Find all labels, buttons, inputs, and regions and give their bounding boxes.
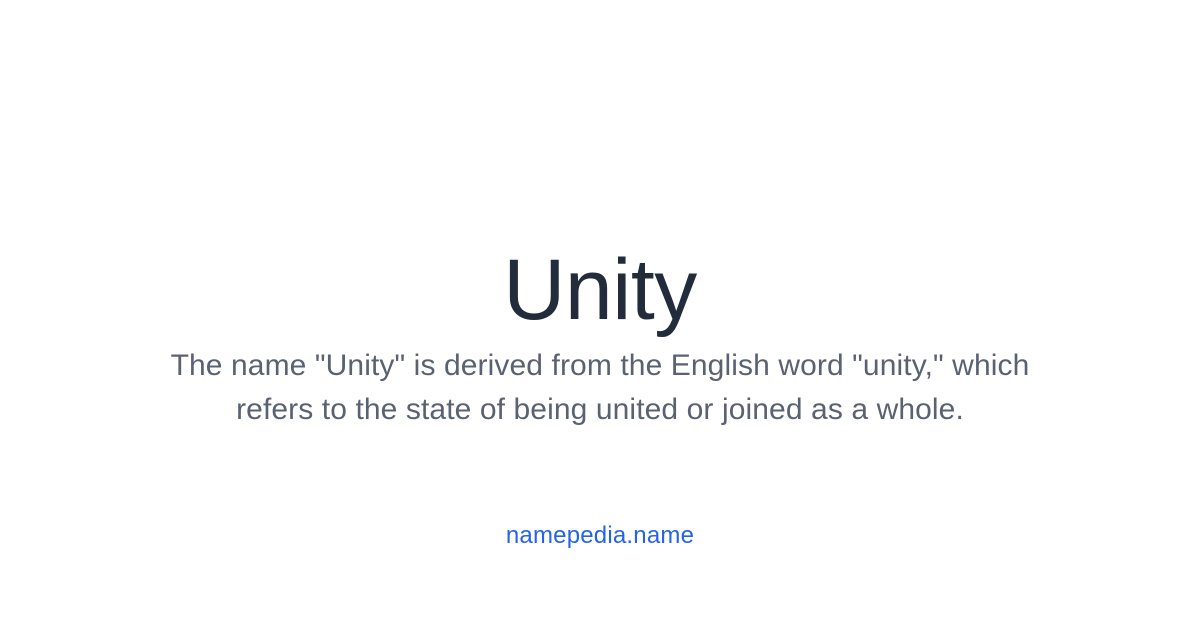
name-preview-card: Unity The name "Unity" is derived from t… — [0, 0, 1200, 630]
site-domain-link[interactable]: namepedia.name — [0, 520, 1200, 552]
page-title: Unity — [0, 244, 1200, 337]
name-description: The name "Unity" is derived from the Eng… — [150, 344, 1050, 432]
